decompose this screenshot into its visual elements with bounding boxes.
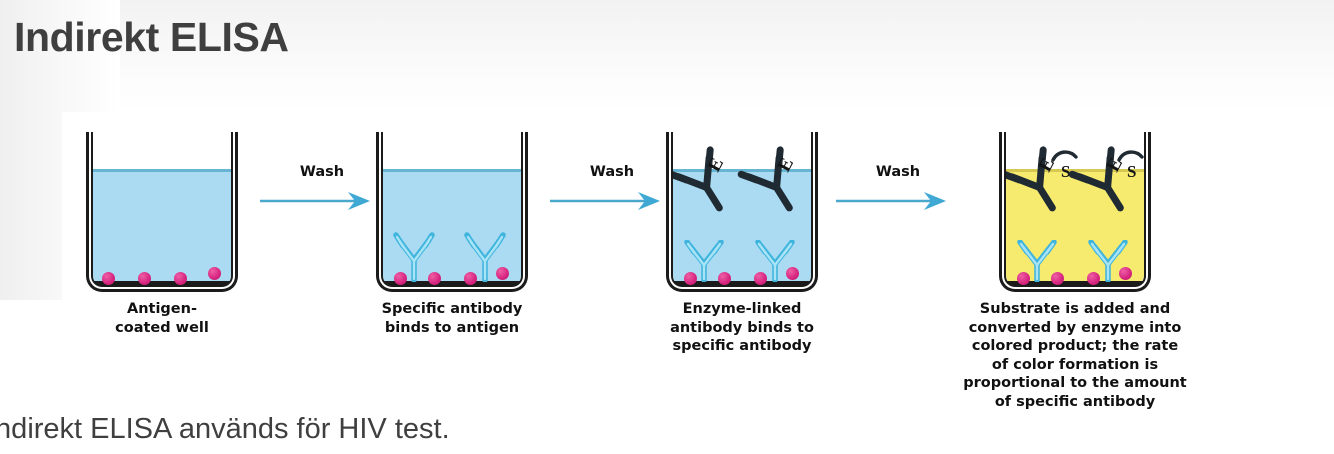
arrow-right-icon xyxy=(260,190,380,217)
slide-body-caption: Indirekt ELISA används för HIV test. xyxy=(0,412,450,447)
step-caption: Enzyme-linked antibody binds to specific… xyxy=(642,300,842,356)
elisa-diagram: Antigen- coated well xyxy=(62,112,1255,454)
step-caption: Antigen- coated well xyxy=(62,300,262,337)
arrow-right-icon xyxy=(550,190,670,217)
diagram-step-substrate-added: E S E xyxy=(925,112,1225,454)
well-3: E E xyxy=(666,132,818,292)
well-inner-rim xyxy=(1002,132,1148,289)
step-caption: Substrate is added and converted by enzy… xyxy=(925,300,1225,411)
well-4: E S E xyxy=(999,132,1151,292)
wash-step-2: Wash xyxy=(556,164,668,222)
wash-label: Wash xyxy=(556,164,668,180)
diagram-step-enzyme-linked-antibody: E E Enzym xyxy=(642,112,842,454)
well-inner-rim xyxy=(669,132,815,289)
well-2 xyxy=(376,132,528,292)
wash-step-1: Wash xyxy=(266,164,378,222)
well-inner-rim xyxy=(89,132,235,289)
arrow-right-icon xyxy=(836,190,956,217)
wash-label: Wash xyxy=(842,164,954,180)
well-1 xyxy=(86,132,238,292)
slide-canvas: Indirekt ELISA Antigen- coated well xyxy=(0,0,1334,454)
page-title: Indirekt ELISA xyxy=(14,16,289,59)
step-caption: Specific antibody binds to antigen xyxy=(352,300,552,337)
wash-label: Wash xyxy=(266,164,378,180)
well-inner-rim xyxy=(379,132,525,289)
wash-step-3: Wash xyxy=(842,164,954,222)
diagram-step-antigen-coated-well: Antigen- coated well xyxy=(62,112,262,454)
diagram-step-specific-antibody-binds: Specific antibody binds to antigen xyxy=(352,112,552,454)
